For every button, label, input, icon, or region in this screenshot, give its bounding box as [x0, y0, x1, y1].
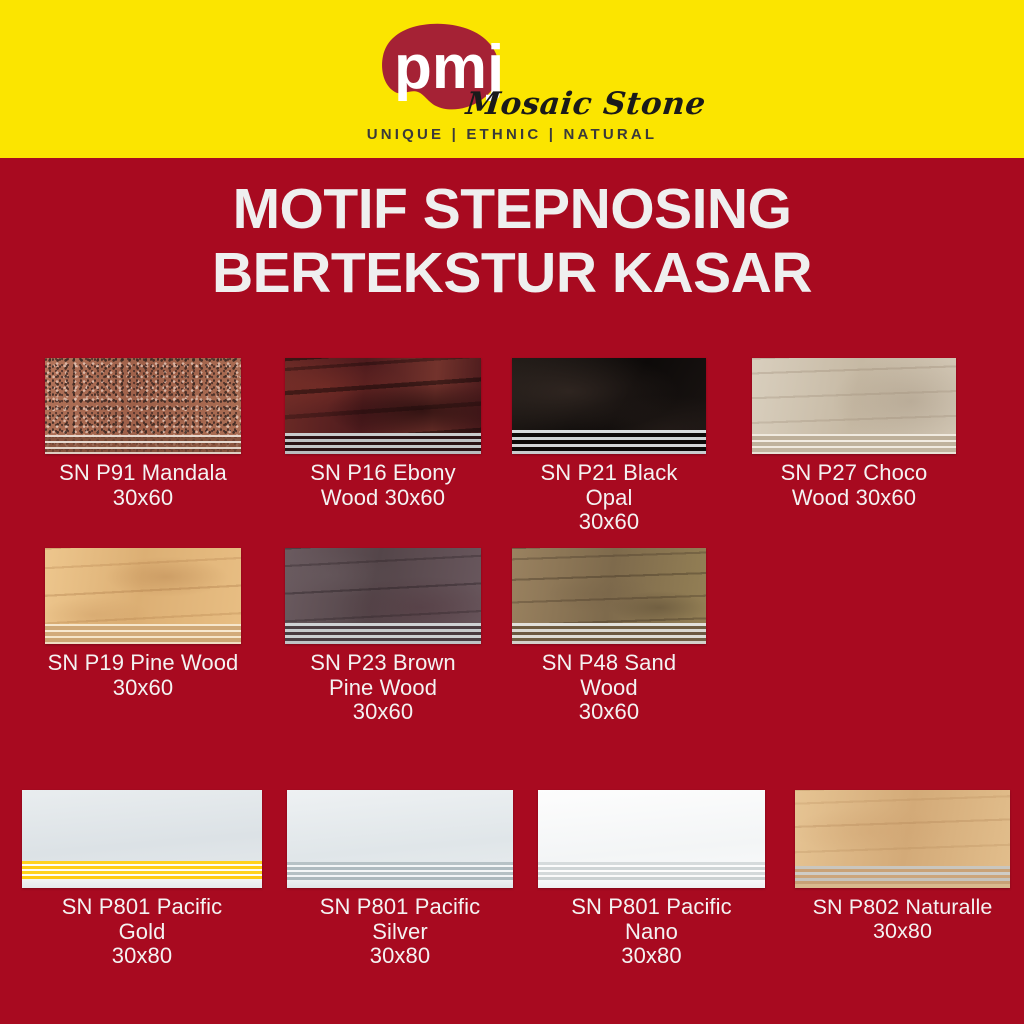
- tile-anti-slip-grooves: [752, 434, 956, 454]
- tile-anti-slip-grooves: [22, 861, 262, 888]
- tile-swatch-pacific-silver: [287, 790, 513, 888]
- product-caption: SN P23 Brown Pine Wood 30x60: [285, 651, 481, 725]
- tile-anti-slip-grooves: [512, 430, 706, 454]
- tile-swatch-sand-wood: [512, 548, 706, 644]
- tile-swatch-pacific-gold: [22, 790, 262, 888]
- tile-anti-slip-grooves: [538, 862, 765, 888]
- product-caption: SN P16 Ebony Wood 30x60: [285, 461, 481, 510]
- brand-tagline: UNIQUE | ETHNIC | NATURAL: [0, 126, 1024, 143]
- product-card-sn-p27-choco-wood[interactable]: SN P27 Choco Wood 30x60: [752, 358, 956, 510]
- tile-anti-slip-grooves: [285, 433, 481, 454]
- catalog-page: pmj Mosaic Stone UNIQUE | ETHNIC | NATUR…: [0, 0, 1024, 1024]
- tile-swatch-black-opal: [512, 358, 706, 454]
- product-card-sn-p23-brown-pine-wood[interactable]: SN P23 Brown Pine Wood 30x60: [285, 548, 481, 725]
- tile-swatch-choco-wood: [752, 358, 956, 454]
- product-caption: SN P801 Pacific Silver 30x80: [287, 895, 513, 969]
- product-caption: SN P48 Sand Wood 30x60: [512, 651, 706, 725]
- product-caption: SN P21 Black Opal 30x60: [512, 461, 706, 535]
- tile-anti-slip-grooves: [287, 862, 513, 888]
- tile-anti-slip-grooves: [512, 623, 706, 644]
- product-caption: SN P27 Choco Wood 30x60: [752, 461, 956, 510]
- page-title: MOTIF STEPNOSING BERTEKSTUR KASAR: [0, 178, 1024, 306]
- tile-anti-slip-grooves: [45, 624, 241, 644]
- tile-swatch-pacific-nano: [538, 790, 765, 888]
- tile-swatch-pine-wood: [45, 548, 241, 644]
- tile-swatch-naturalle: [795, 790, 1010, 888]
- tile-swatch-mandala: [45, 358, 241, 454]
- product-card-sn-p21-black-opal[interactable]: SN P21 Black Opal 30x60: [512, 358, 706, 535]
- product-card-sn-p801-pacific-silver[interactable]: SN P801 Pacific Silver 30x80: [287, 790, 513, 969]
- tile-anti-slip-grooves: [45, 435, 241, 454]
- page-title-line2: BERTEKSTUR KASAR: [0, 242, 1024, 306]
- page-title-line1: MOTIF STEPNOSING: [233, 177, 792, 241]
- product-card-sn-p19-pine-wood[interactable]: SN P19 Pine Wood 30x60: [45, 548, 241, 700]
- product-caption: SN P801 Pacific Gold 30x80: [22, 895, 262, 969]
- product-card-sn-p91-mandala[interactable]: SN P91 Mandala 30x60: [45, 358, 241, 510]
- product-card-sn-p802-naturalle[interactable]: SN P802 Naturalle 30x80: [795, 790, 1010, 943]
- product-card-sn-p16-ebony-wood[interactable]: SN P16 Ebony Wood 30x60: [285, 358, 481, 510]
- tile-swatch-ebony-wood: [285, 358, 481, 454]
- product-caption: SN P91 Mandala 30x60: [45, 461, 241, 510]
- brand-header-band: pmj Mosaic Stone UNIQUE | ETHNIC | NATUR…: [0, 0, 1024, 158]
- product-card-sn-p801-pacific-nano[interactable]: SN P801 Pacific Nano 30x80: [538, 790, 765, 969]
- product-card-sn-p48-sand-wood[interactable]: SN P48 Sand Wood 30x60: [512, 548, 706, 725]
- product-caption: SN P801 Pacific Nano 30x80: [538, 895, 765, 969]
- logo-script-text: Mosaic Stone: [464, 86, 707, 122]
- tile-swatch-brown-pine-wood: [285, 548, 481, 644]
- product-caption: SN P19 Pine Wood 30x60: [45, 651, 241, 700]
- tile-anti-slip-grooves: [285, 623, 481, 644]
- logo-lockup: pmj Mosaic Stone: [0, 8, 1024, 118]
- product-card-sn-p801-pacific-gold[interactable]: SN P801 Pacific Gold 30x80: [22, 790, 262, 969]
- tile-anti-slip-grooves: [795, 866, 1010, 888]
- product-caption: SN P802 Naturalle 30x80: [795, 895, 1010, 943]
